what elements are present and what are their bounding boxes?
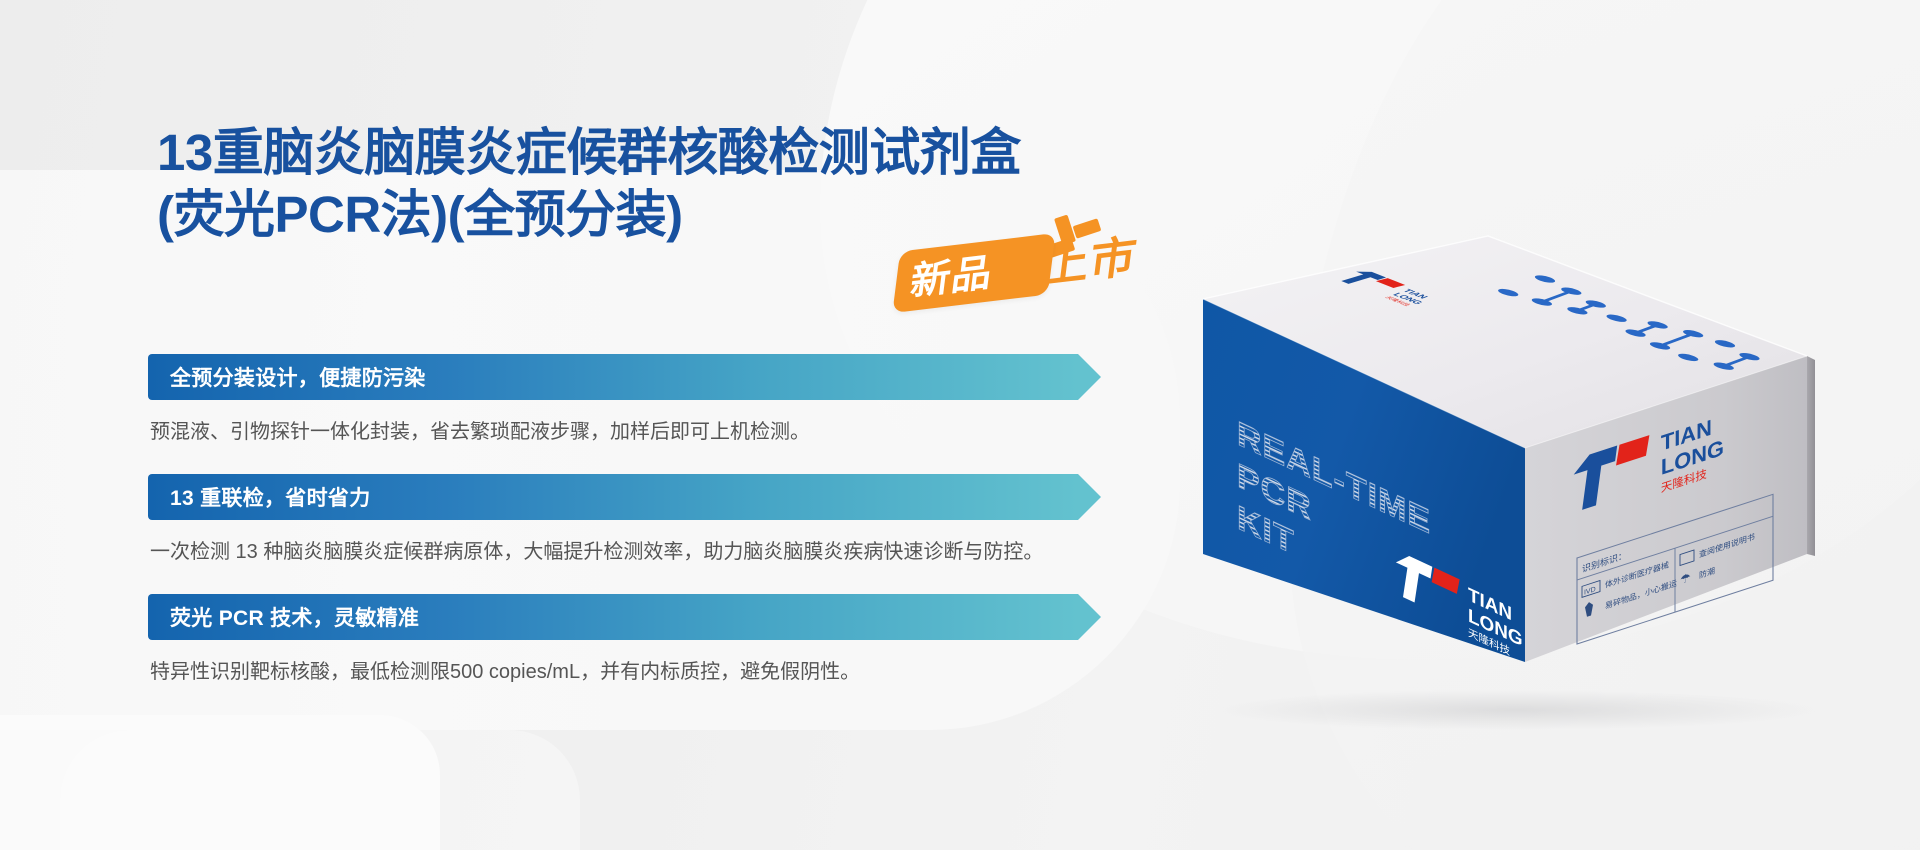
feature-desc-2: 一次检测 13 种脑炎脑膜炎症候群病原体，大幅提升检测效率，助力脑炎脑膜炎疾病快… (148, 534, 1080, 570)
box-right-edge (1807, 356, 1815, 556)
product-box-image: TIAN LONG 天隆科技 REAL-TIME PCR KIT TIAN LO… (1195, 224, 1815, 704)
product-banner: 13重脑炎脑膜炎症候群核酸检测试剂盒 (荧光PCR法)(全预分装) 新品 上市 … (0, 0, 1920, 850)
feature-desc-3: 特异性识别靶标核酸，最低检测限500 copies/mL，并有内标质控，避免假阴… (148, 654, 1080, 690)
feature-title-1: 全预分装设计，便捷防污染 (148, 362, 426, 392)
feature-title-2: 13 重联检，省时省力 (148, 482, 371, 512)
title-line-1: 13重脑炎脑膜炎症候群核酸检测试剂盒 (157, 122, 1021, 184)
background-round-bottom-left (0, 715, 440, 850)
feature-item-2: 13 重联检，省时省力 一次检测 13 种脑炎脑膜炎症候群病原体，大幅提升检测效… (148, 474, 1158, 570)
feature-item-3: 荧光 PCR 技术，灵敏精准 特异性识别靶标核酸，最低检测限500 copies… (148, 594, 1158, 690)
background-round-bottom-left-2 (60, 730, 580, 850)
feature-item-1: 全预分装设计，便捷防污染 预混液、引物探针一体化封装，省去繁琐配液步骤，加样后即… (148, 354, 1158, 450)
feature-bar-3: 荧光 PCR 技术，灵敏精准 (148, 594, 1078, 640)
feature-bar-1: 全预分装设计，便捷防污染 (148, 354, 1078, 400)
feature-bar-2: 13 重联检，省时省力 (148, 474, 1078, 520)
feature-title-3: 荧光 PCR 技术，灵敏精准 (148, 602, 419, 632)
feature-list: 全预分装设计，便捷防污染 预混液、引物探针一体化封装，省去繁琐配液步骤，加样后即… (148, 354, 1158, 714)
new-badge-tail-label: 上市 (1040, 231, 1141, 294)
new-product-badge: 新品 上市 (892, 214, 1152, 319)
feature-desc-1: 预混液、引物探针一体化封装，省去繁琐配液步骤，加样后即可上机检测。 (148, 414, 1080, 450)
